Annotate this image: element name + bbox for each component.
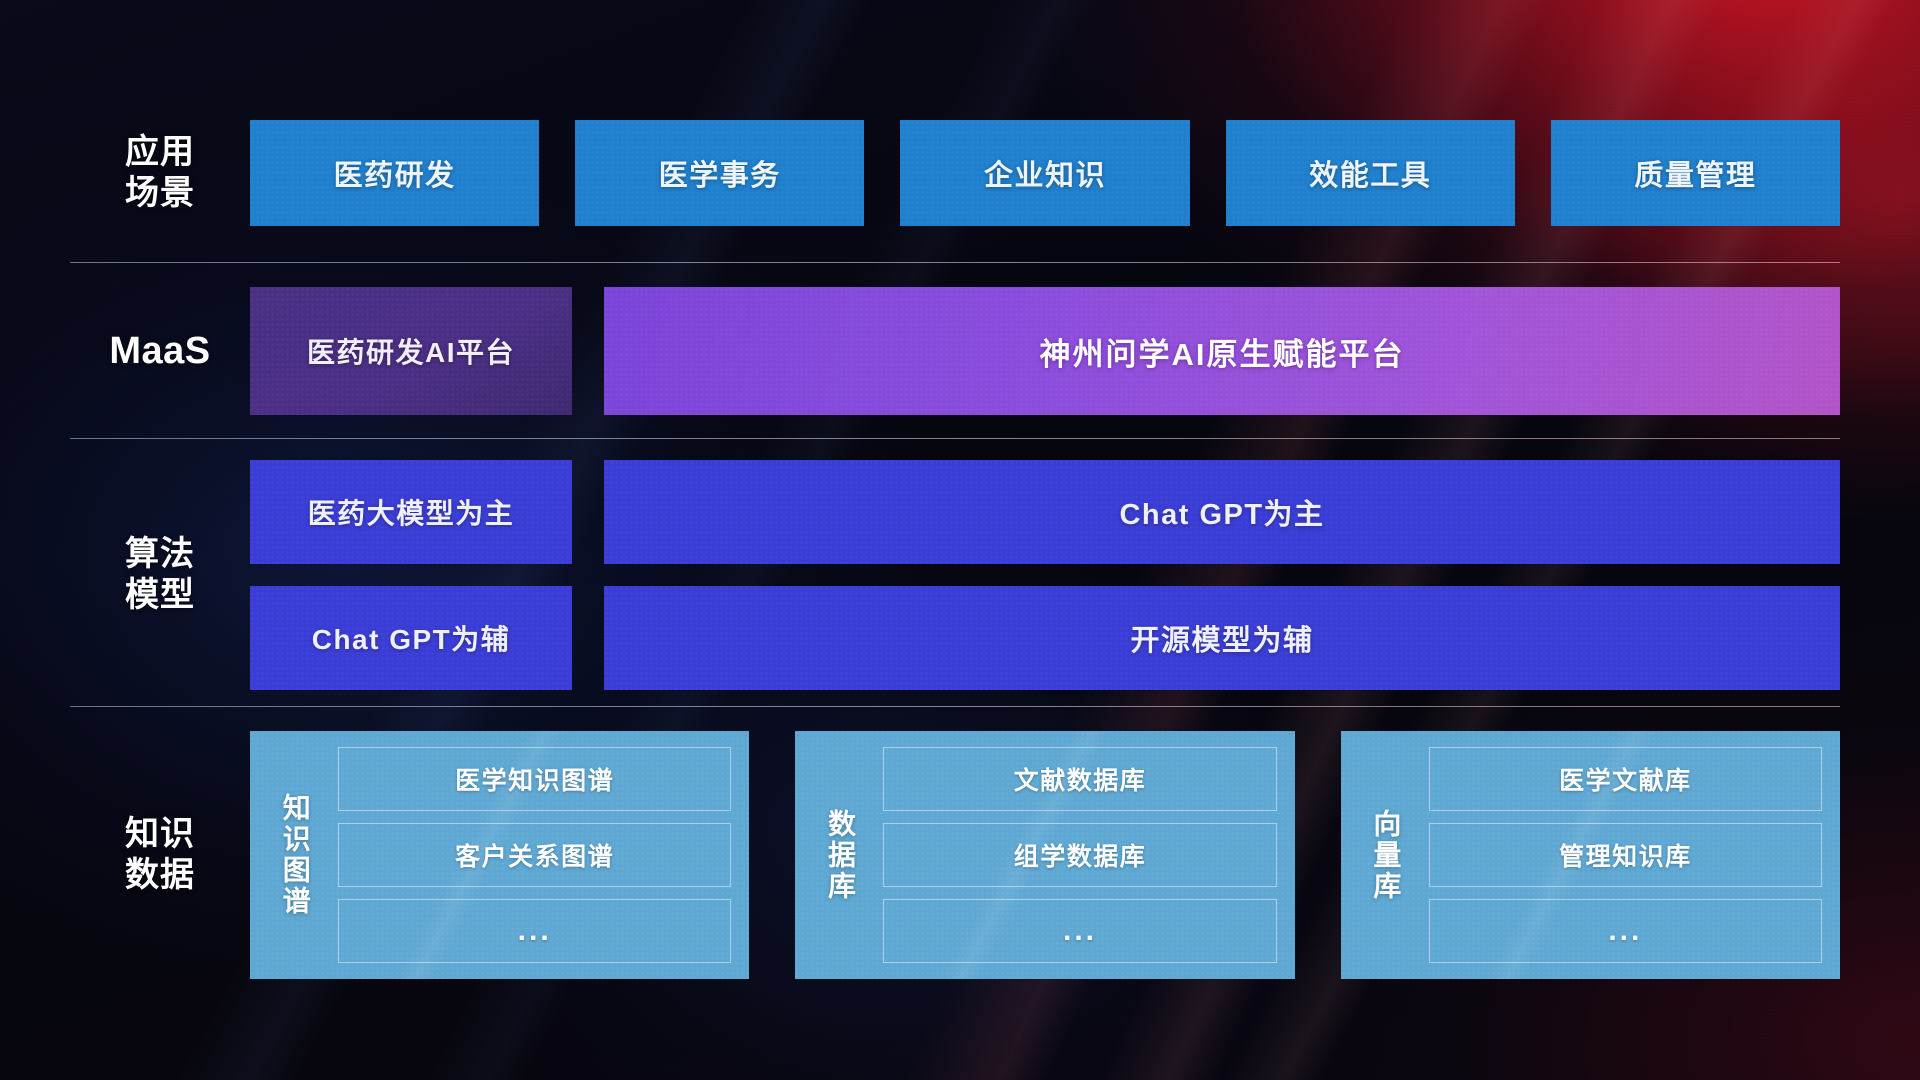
- application-box-label: 质量管理: [1634, 152, 1756, 194]
- algorithm-box-label: Chat GPT为辅: [312, 618, 511, 658]
- algorithm-row-secondary: Chat GPT为辅 开源模型为辅: [250, 586, 1840, 690]
- divider-maas-algorithm: [70, 438, 1840, 439]
- application-box-efficiency-tools[interactable]: 效能工具: [1226, 120, 1515, 226]
- application-box-label: 企业知识: [984, 152, 1106, 194]
- application-box-medical-affairs[interactable]: 医学事务: [575, 120, 864, 226]
- knowledge-card-group: 知识图谱 医学知识图谱 客户关系图谱 ... 数据库 文献数据库 组学数据库 .…: [250, 731, 1840, 979]
- layer-label-algorithm-models: 算法模型: [70, 534, 250, 617]
- application-box-drug-rd[interactable]: 医药研发: [250, 120, 539, 226]
- divider-algorithm-knowledge: [70, 706, 1840, 707]
- layer-maas: MaaS 医药研发AI平台 神州问学AI原生赋能平台: [70, 286, 1840, 416]
- algorithm-box-pharma-llm-primary[interactable]: 医药大模型为主: [250, 460, 572, 564]
- application-box-group: 医药研发 医学事务 企业知识 效能工具 质量管理: [250, 120, 1840, 226]
- algorithm-box-group: 医药大模型为主 Chat GPT为主 Chat GPT为辅 开源模型为辅: [250, 460, 1840, 690]
- knowledge-item-management-knowledge-store[interactable]: 管理知识库: [1429, 823, 1822, 887]
- layer-application-scenarios: 应用场景 医药研发 医学事务 企业知识 效能工具 质量管理: [70, 118, 1840, 228]
- layer-label-maas: MaaS: [70, 328, 250, 374]
- knowledge-card-vector-store[interactable]: 向量库 医学文献库 管理知识库 ...: [1341, 731, 1840, 979]
- knowledge-item-list: 医学知识图谱 客户关系图谱 ...: [338, 747, 731, 963]
- algorithm-box-opensource-secondary[interactable]: 开源模型为辅: [604, 586, 1840, 690]
- maas-box-label: 医药研发AI平台: [307, 331, 515, 371]
- knowledge-item-more[interactable]: ...: [338, 899, 731, 963]
- knowledge-item-omics-database[interactable]: 组学数据库: [883, 823, 1276, 887]
- algorithm-box-chatgpt-secondary[interactable]: Chat GPT为辅: [250, 586, 572, 690]
- maas-box-shenzhou-wenxue-platform[interactable]: 神州问学AI原生赋能平台: [604, 287, 1840, 415]
- knowledge-item-medical-literature-store[interactable]: 医学文献库: [1429, 747, 1822, 811]
- knowledge-item-more[interactable]: ...: [883, 899, 1276, 963]
- knowledge-item-list: 医学文献库 管理知识库 ...: [1429, 747, 1822, 963]
- application-box-quality-management[interactable]: 质量管理: [1551, 120, 1840, 226]
- algorithm-row-primary: 医药大模型为主 Chat GPT为主: [250, 460, 1840, 564]
- layer-label-knowledge-data: 知识数据: [70, 814, 250, 897]
- knowledge-card-title: 向量库: [1357, 747, 1415, 963]
- application-box-label: 医药研发: [334, 152, 456, 194]
- layer-label-application-scenarios: 应用场景: [70, 132, 250, 215]
- application-box-label: 医学事务: [659, 152, 781, 194]
- slide-canvas: 应用场景 医药研发 医学事务 企业知识 效能工具 质量管理 MaaS 医药研发A…: [0, 0, 1920, 1080]
- knowledge-item-literature-database[interactable]: 文献数据库: [883, 747, 1276, 811]
- knowledge-item-medical-knowledge-graph[interactable]: 医学知识图谱: [338, 747, 731, 811]
- maas-box-drug-rd-ai-platform[interactable]: 医药研发AI平台: [250, 287, 572, 415]
- algorithm-box-label: Chat GPT为主: [1119, 491, 1324, 533]
- layer-knowledge-data: 知识数据 知识图谱 医学知识图谱 客户关系图谱 ... 数据库: [70, 730, 1840, 980]
- algorithm-box-label: 开源模型为辅: [1130, 617, 1313, 659]
- algorithm-box-chatgpt-primary[interactable]: Chat GPT为主: [604, 460, 1840, 564]
- knowledge-card-title: 知识图谱: [266, 747, 324, 963]
- maas-box-label: 神州问学AI原生赋能平台: [1040, 329, 1405, 374]
- application-box-enterprise-knowledge[interactable]: 企业知识: [900, 120, 1189, 226]
- knowledge-item-more[interactable]: ...: [1429, 899, 1822, 963]
- knowledge-card-title: 数据库: [811, 747, 869, 963]
- algorithm-box-label: 医药大模型为主: [308, 492, 515, 532]
- layer-algorithm-models: 算法模型 医药大模型为主 Chat GPT为主 Chat GPT为辅 开源模型为…: [70, 460, 1840, 690]
- divider-applications-maas: [70, 262, 1840, 263]
- application-box-label: 效能工具: [1309, 152, 1431, 194]
- knowledge-card-knowledge-graph[interactable]: 知识图谱 医学知识图谱 客户关系图谱 ...: [250, 731, 749, 979]
- knowledge-item-customer-relation-graph[interactable]: 客户关系图谱: [338, 823, 731, 887]
- knowledge-item-list: 文献数据库 组学数据库 ...: [883, 747, 1276, 963]
- knowledge-card-database[interactable]: 数据库 文献数据库 组学数据库 ...: [795, 731, 1294, 979]
- maas-box-group: 医药研发AI平台 神州问学AI原生赋能平台: [250, 287, 1840, 415]
- architecture-diagram: 应用场景 医药研发 医学事务 企业知识 效能工具 质量管理 MaaS 医药研发A…: [0, 0, 1920, 1080]
